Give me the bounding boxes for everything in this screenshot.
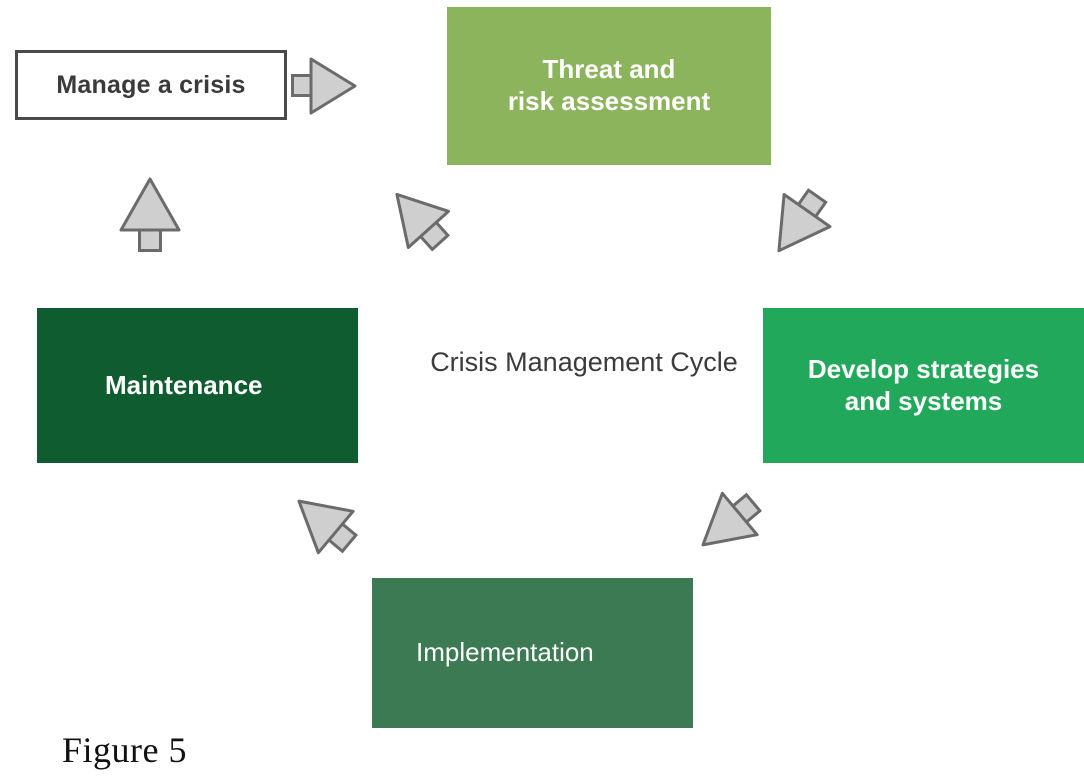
arrow-up-left-to-maintenance-icon bbox=[292, 486, 358, 560]
entry-box-manage-a-crisis: Manage a crisis bbox=[15, 50, 287, 120]
node-develop-strategies-and-systems: Develop strategies and systems bbox=[763, 308, 1084, 463]
node-develop-label-line1: Develop strategies bbox=[808, 354, 1039, 386]
node-develop-label-line2: and systems bbox=[808, 386, 1039, 418]
crisis-management-cycle-diagram: Manage a crisis Threat and risk assessme… bbox=[0, 0, 1084, 778]
node-implementation: Implementation bbox=[372, 578, 693, 728]
node-threat-label-line1: Threat and bbox=[508, 54, 710, 86]
arrow-up-right-to-threat-icon bbox=[386, 183, 452, 255]
center-title-line2: Cycle bbox=[670, 347, 738, 377]
node-implementation-label: Implementation bbox=[416, 637, 594, 669]
node-maintenance: Maintenance bbox=[37, 308, 358, 463]
figure-caption: Figure 5 bbox=[62, 729, 187, 771]
center-title-line1: Crisis Management bbox=[430, 347, 663, 377]
diagram-center-title: Crisis Management Cycle bbox=[392, 345, 776, 381]
node-maintenance-label: Maintenance bbox=[105, 370, 263, 402]
arrow-down-left-to-implementation-icon bbox=[696, 486, 762, 560]
node-threat-and-risk-assessment: Threat and risk assessment bbox=[447, 7, 771, 165]
arrow-right-entry-icon bbox=[291, 55, 359, 117]
node-threat-label-line2: risk assessment bbox=[508, 86, 710, 118]
arrow-up-maintenance-to-entry-icon bbox=[117, 176, 183, 254]
entry-box-label: Manage a crisis bbox=[56, 70, 245, 101]
arrow-down-left-to-develop-icon bbox=[766, 183, 832, 261]
